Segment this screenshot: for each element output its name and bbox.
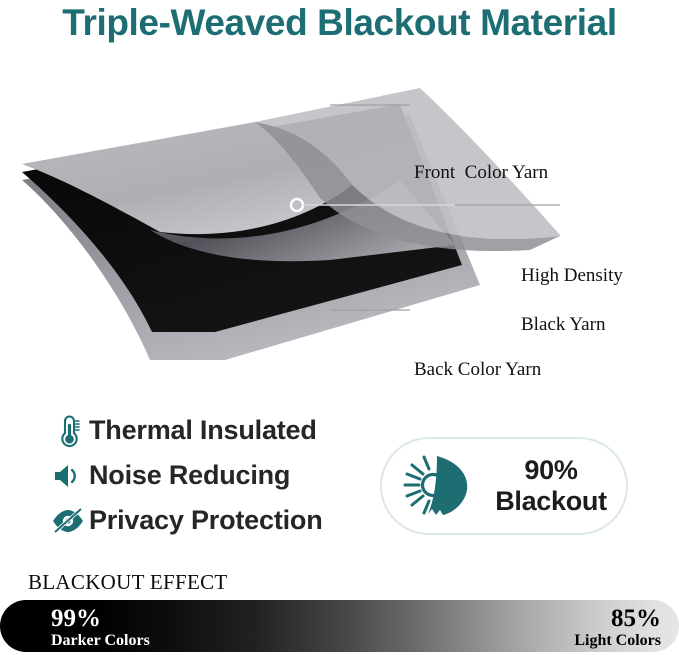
eye-slash-icon — [47, 507, 89, 535]
page-title: Triple-Weaved Blackout Material — [0, 2, 679, 44]
feature-item-privacy-protection: Privacy Protection — [47, 498, 367, 543]
darker-colors-percent: 99% — [51, 606, 150, 632]
light-colors-caption: Light Colors — [574, 632, 661, 650]
speaker-icon — [47, 461, 89, 491]
feature-item-thermal-insulated: Thermal Insulated — [47, 408, 367, 453]
thermometer-icon — [47, 414, 89, 448]
blackout-effect-right: 85% Light Colors — [574, 606, 661, 650]
sun-curtain-icon — [382, 452, 484, 520]
feature-list: Thermal Insulated Noise Reducing Privacy… — [47, 408, 367, 543]
label-high-density-line1: High Density — [521, 265, 623, 286]
blackout-badge: 90% Blackout — [380, 437, 628, 535]
label-front-color-yarn: Front Color Yarn — [414, 161, 548, 185]
layer-front-color-yarn — [22, 88, 560, 308]
blackout-percent: 90% — [524, 455, 577, 485]
blackout-caption: Blackout — [495, 486, 607, 516]
label-high-density-line2: Black Yarn — [521, 314, 605, 335]
label-back-color-yarn: Back Color Yarn — [414, 358, 541, 382]
blackout-effect-left: 99% Darker Colors — [51, 606, 150, 650]
fabric-layers-diagram: Front Color Yarn High Density Black Yarn… — [0, 60, 679, 360]
label-high-density-black-yarn: High Density Black Yarn — [502, 240, 623, 362]
feature-label-privacy-protection: Privacy Protection — [89, 505, 323, 536]
darker-colors-caption: Darker Colors — [51, 632, 150, 650]
light-colors-percent: 85% — [574, 606, 661, 632]
blackout-badge-text: 90% Blackout — [484, 455, 626, 517]
feature-item-noise-reducing: Noise Reducing — [47, 453, 367, 498]
feature-label-thermal-insulated: Thermal Insulated — [89, 415, 317, 446]
blackout-effect-heading: BLACKOUT EFFECT — [28, 570, 228, 595]
feature-label-noise-reducing: Noise Reducing — [89, 460, 290, 491]
